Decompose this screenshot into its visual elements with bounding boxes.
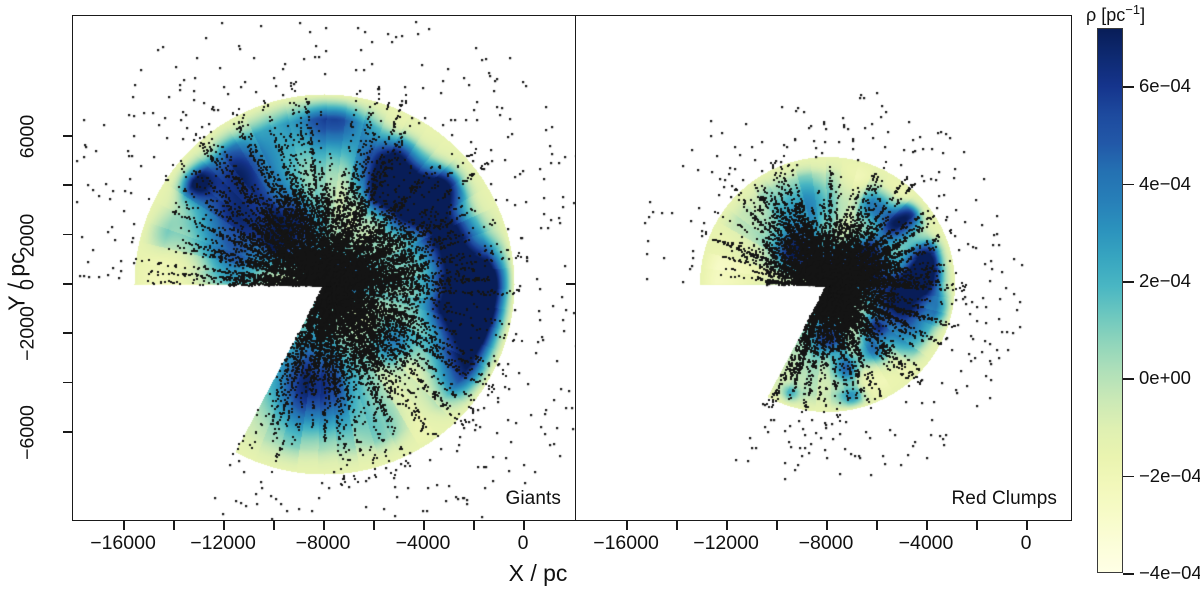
x-tick-label-giants-2: −8000 — [296, 532, 351, 555]
colorbar-tick-label-3: 0e+00 — [1139, 367, 1191, 389]
colorbar-title: ρ [pc−1] — [1086, 2, 1145, 26]
x-tick-label-giants-0: −16000 — [90, 532, 156, 555]
figure-root: Giants Red Clumps −16000−12000−8000−4000… — [0, 0, 1200, 596]
colorbar-tick-label-0: 6e−04 — [1139, 75, 1191, 97]
density-map-red-clumps — [576, 16, 1072, 521]
x-tick-major-redclumps-0 — [626, 521, 628, 530]
x-tick-minor-giants-3 — [473, 521, 475, 530]
y-tick-minor-1 — [63, 382, 72, 384]
x-tick-minor-giants-2 — [373, 521, 375, 530]
x-tick-major-redclumps-2 — [826, 521, 828, 530]
y-tick-major-0 — [63, 135, 72, 137]
x-tick-minor-giants-0 — [173, 521, 175, 530]
x-tick-major-redclumps-3 — [926, 521, 928, 530]
colorbar-tick-label-1: 4e−04 — [1139, 173, 1191, 195]
x-axis-title: X / pc — [0, 560, 1076, 587]
colorbar-tick-5 — [1123, 573, 1134, 575]
x-tick-label-giants-4: 0 — [518, 532, 529, 555]
colorbar — [1097, 28, 1123, 573]
colorbar-tick-0 — [1123, 86, 1134, 88]
colorbar-tick-3 — [1123, 378, 1134, 380]
colorbar-tick-label-2: 2e−04 — [1139, 270, 1191, 292]
panel-red-clumps: Red Clumps — [575, 15, 1072, 521]
x-tick-label-redclumps-4: 0 — [1021, 532, 1032, 555]
y-tick-major-3 — [63, 332, 72, 334]
x-tick-major-redclumps-1 — [726, 521, 728, 530]
x-tick-label-redclumps-3: −4000 — [899, 532, 954, 555]
y-tick-minor-0 — [63, 184, 72, 186]
colorbar-title-rho: ρ — [1086, 5, 1096, 25]
panel-giants: Giants — [72, 15, 576, 521]
colorbar-title-unit: [pc — [1101, 5, 1125, 25]
colorbar-title-exponent: −1 — [1125, 2, 1140, 17]
x-tick-label-redclumps-2: −8000 — [799, 532, 854, 555]
colorbar-tick-1 — [1123, 184, 1134, 186]
x-tick-label-giants-1: −12000 — [190, 532, 256, 555]
y-tick-label-0: 6000 — [17, 109, 40, 165]
y-tick-major-2 — [63, 283, 72, 285]
x-tick-label-redclumps-1: −12000 — [693, 532, 759, 555]
x-tick-label-giants-3: −4000 — [396, 532, 451, 555]
colorbar-tick-label-5: −4e−04 — [1139, 562, 1200, 584]
panel-label-red-clumps: Red Clumps — [951, 488, 1057, 510]
y-tick-major-1 — [63, 234, 72, 236]
x-tick-minor-giants-1 — [273, 521, 275, 530]
x-tick-minor-redclumps-0 — [676, 521, 678, 530]
colorbar-gradient — [1097, 28, 1123, 573]
x-tick-major-giants-1 — [223, 521, 225, 530]
x-tick-minor-redclumps-3 — [976, 521, 978, 530]
colorbar-tick-2 — [1123, 281, 1134, 283]
y-tick-label-4: −6000 — [17, 405, 40, 461]
panel-divider-tick — [566, 283, 575, 285]
x-tick-major-giants-2 — [323, 521, 325, 530]
y-axis-title: Y / pc — [4, 232, 31, 332]
panel-label-giants: Giants — [505, 488, 561, 510]
x-tick-major-giants-4 — [523, 521, 525, 530]
density-map-giants — [73, 16, 576, 521]
x-tick-major-redclumps-4 — [1026, 521, 1028, 530]
x-tick-minor-redclumps-2 — [876, 521, 878, 530]
colorbar-tick-label-4: −2e−04 — [1139, 465, 1200, 487]
y-tick-major-4 — [63, 431, 72, 433]
colorbar-tick-4 — [1123, 476, 1134, 478]
x-tick-minor-redclumps-1 — [776, 521, 778, 530]
colorbar-title-bracket: ] — [1140, 5, 1145, 25]
x-tick-major-giants-3 — [423, 521, 425, 530]
x-tick-label-redclumps-0: −16000 — [593, 532, 659, 555]
x-tick-major-giants-0 — [123, 521, 125, 530]
